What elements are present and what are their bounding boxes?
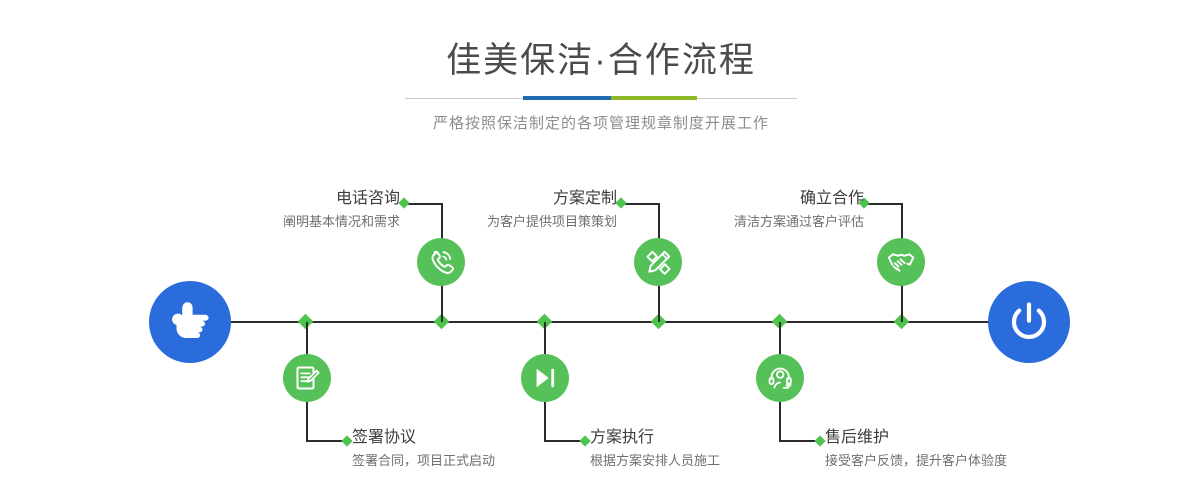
connector-tip-step-4	[579, 435, 590, 446]
label-desc-step-4: 根据方案安排人员施工	[590, 451, 720, 471]
connector-step-1-h	[404, 203, 442, 205]
node-icon-step-4	[521, 354, 569, 402]
document-pen-icon	[294, 365, 320, 391]
timeline-end-marker	[988, 281, 1070, 363]
label-step-4: 方案执行 根据方案安排人员施工	[590, 427, 720, 471]
headset-support-icon	[767, 365, 794, 392]
power-icon	[1006, 299, 1052, 345]
connector-tip-step-2	[341, 435, 352, 446]
connector-step-6-h	[779, 440, 819, 442]
flowchart-page: 佳美保洁·合作流程 严格按照保洁制定的各项管理规章制度开展工作	[0, 0, 1202, 502]
node-icon-step-3	[634, 238, 682, 286]
handshake-icon	[887, 248, 915, 276]
phone-call-icon	[427, 248, 455, 276]
process-timeline: 电话咨询 阐明基本情况和需求 签署协议 签署合同，项目正式启动	[0, 0, 1202, 502]
label-title-step-2: 签署协议	[352, 427, 495, 449]
label-desc-step-5: 清洁方案通过客户评估	[734, 212, 864, 232]
play-execute-icon	[532, 365, 558, 391]
pointing-hand-icon	[167, 301, 213, 343]
label-title-step-1: 电话咨询	[283, 188, 400, 210]
connector-tip-step-6	[814, 435, 825, 446]
label-title-step-4: 方案执行	[590, 427, 720, 449]
label-step-1: 电话咨询 阐明基本情况和需求	[283, 188, 400, 232]
label-title-step-3: 方案定制	[487, 188, 617, 210]
label-step-2: 签署协议 签署合同，项目正式启动	[352, 427, 495, 471]
label-step-3: 方案定制 为客户提供项目策策划	[487, 188, 617, 232]
connector-step-5-h	[864, 203, 902, 205]
pencil-ruler-icon	[645, 249, 672, 276]
label-desc-step-1: 阐明基本情况和需求	[283, 212, 400, 232]
connector-step-2-h	[306, 440, 346, 442]
connector-tip-step-3	[615, 197, 626, 208]
label-desc-step-2: 签署合同，项目正式启动	[352, 451, 495, 471]
label-step-5: 确立合作 清洁方案通过客户评估	[734, 188, 864, 232]
node-icon-step-6	[756, 354, 804, 402]
label-title-step-5: 确立合作	[734, 188, 864, 210]
label-desc-step-6: 接受客户反馈，提升客户体验度	[825, 451, 1007, 471]
label-step-6: 售后维护 接受客户反馈，提升客户体验度	[825, 427, 1007, 471]
connector-step-4-h	[544, 440, 584, 442]
timeline-start-marker	[149, 281, 231, 363]
connector-step-3-h	[621, 203, 659, 205]
node-icon-step-5	[877, 238, 925, 286]
node-icon-step-2	[283, 354, 331, 402]
label-title-step-6: 售后维护	[825, 427, 1007, 449]
timeline-axis	[160, 321, 1042, 323]
node-icon-step-1	[417, 238, 465, 286]
label-desc-step-3: 为客户提供项目策策划	[487, 212, 617, 232]
connector-tip-step-1	[398, 197, 409, 208]
